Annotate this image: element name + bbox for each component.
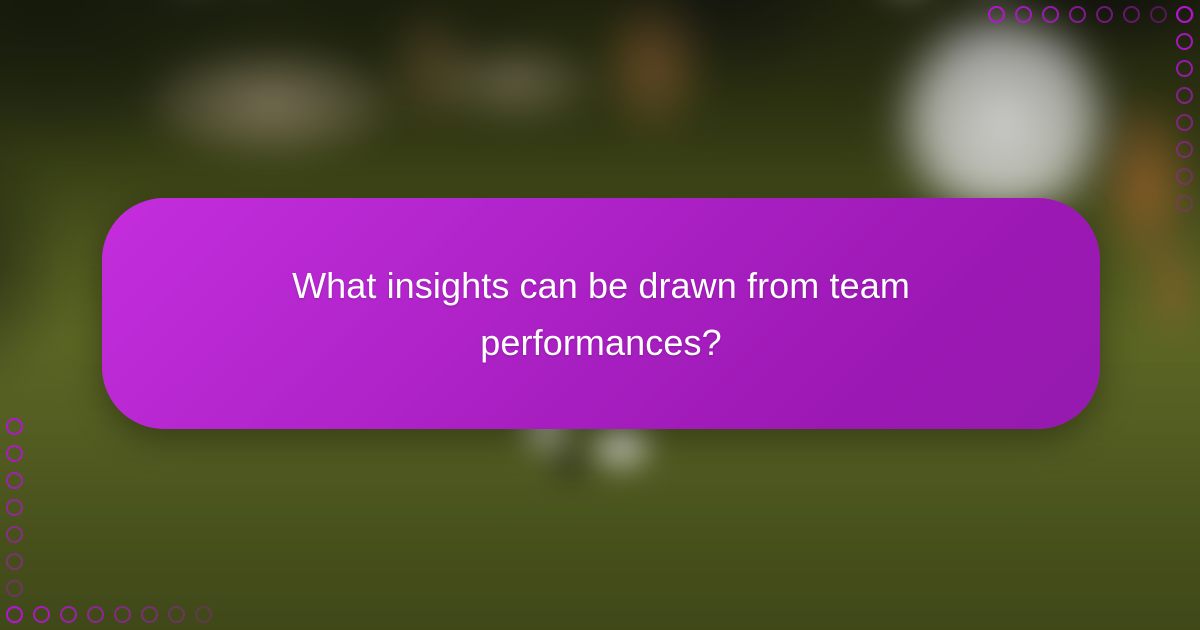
question-text: What insights can be drawn from team per…: [256, 257, 946, 371]
question-card[interactable]: What insights can be drawn from team per…: [102, 198, 1100, 429]
promo-card-canvas: What insights can be drawn from team per…: [0, 0, 1200, 630]
